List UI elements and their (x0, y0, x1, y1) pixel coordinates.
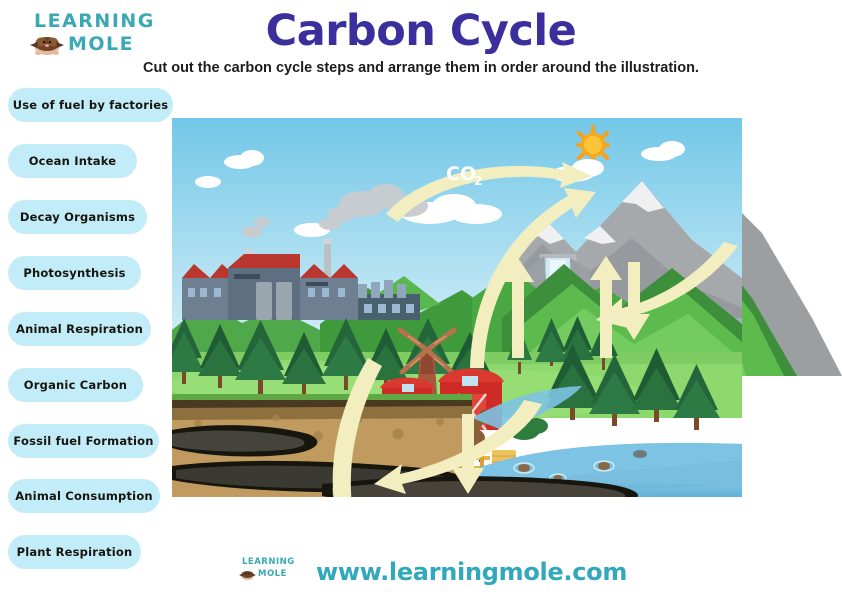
step-pill-label: Animal Consumption (15, 489, 153, 503)
worksheet-page: LEARNING MOLE Carbon Cycle Cut out the c… (0, 0, 842, 595)
step-pill-label: Use of fuel by factories (13, 98, 169, 112)
step-pill-6[interactable]: Fossil fuel Formation (8, 424, 159, 458)
svg-text:CO: CO (446, 163, 476, 185)
footer-logo-line-2: MOLE (258, 570, 287, 579)
mole-icon (238, 569, 257, 581)
step-pill-5[interactable]: Organic Carbon (8, 368, 143, 402)
website-url[interactable]: www.learningmole.com (316, 558, 627, 586)
step-pill-2[interactable]: Decay Organisms (8, 200, 147, 234)
illustration-frame: CO 2 (172, 118, 742, 497)
step-pill-label: Organic Carbon (24, 378, 127, 392)
page-title: Carbon Cycle (0, 6, 842, 56)
page-subtitle: Cut out the carbon cycle steps and arran… (0, 60, 842, 76)
scene-svg: CO 2 (172, 118, 742, 497)
step-pill-8[interactable]: Plant Respiration (8, 535, 141, 569)
step-pill-3[interactable]: Photosynthesis (8, 256, 141, 290)
step-pill-1[interactable]: Ocean Intake (8, 144, 137, 178)
step-pill-label: Plant Respiration (17, 545, 133, 559)
step-pill-7[interactable]: Animal Consumption (8, 479, 160, 513)
step-pill-0[interactable]: Use of fuel by factories (8, 88, 173, 122)
step-pill-label: Decay Organisms (20, 210, 135, 224)
step-pill-label: Fossil fuel Formation (13, 434, 153, 448)
footer-logo: LEARNING MOLE (236, 558, 298, 584)
svg-text:2: 2 (474, 174, 482, 188)
carbon-cycle-illustration: CO 2 (172, 118, 742, 497)
step-pill-label: Animal Respiration (16, 322, 143, 336)
step-pill-4[interactable]: Animal Respiration (8, 312, 151, 346)
footer-logo-line-1: LEARNING (242, 558, 295, 567)
step-pill-label: Photosynthesis (23, 266, 125, 280)
step-pill-label: Ocean Intake (29, 154, 117, 168)
